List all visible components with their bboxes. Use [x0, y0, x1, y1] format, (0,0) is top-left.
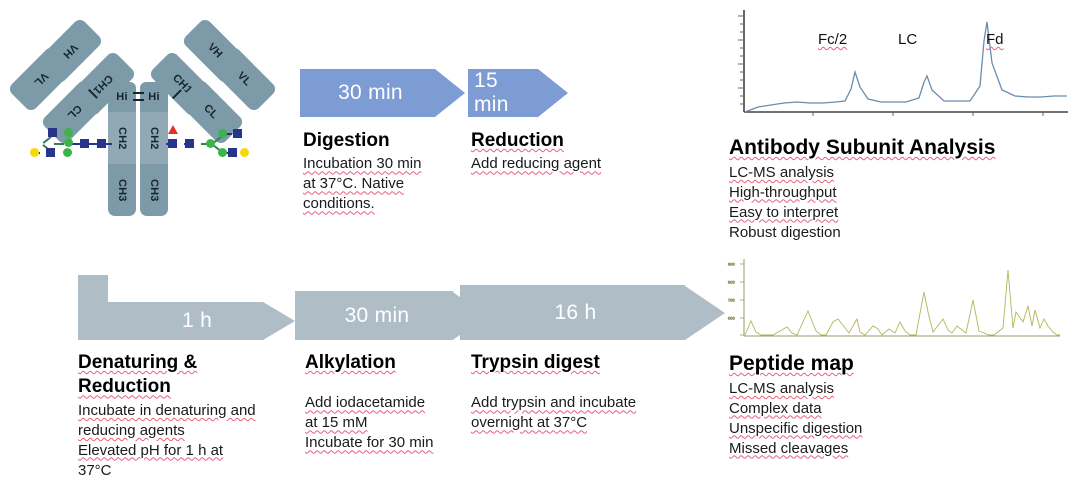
step-title: Digestion: [303, 130, 463, 152]
result-line: LC-MS analysis: [729, 164, 834, 181]
domain-hinge-right: Hi: [140, 82, 168, 112]
arrow-duration-label: 30 min: [295, 291, 453, 340]
peak-label-fc2: Fc/2: [818, 31, 847, 48]
fucose-symbol: [168, 125, 178, 134]
antibody-diagram: VL CL VH CH1 CH1 VH CL VL Hi Hi CH2 CH2 …: [0, 0, 285, 250]
domain-label: Hi: [148, 91, 159, 103]
disulfide-bond-upper: [133, 92, 144, 94]
domain-label: VH: [60, 41, 80, 61]
step-line: Add reducing agent: [471, 155, 601, 172]
arrow-head-icon: [685, 286, 725, 340]
domain-ch2-left: CH2: [108, 112, 136, 164]
arrow-reduction: 15 min: [468, 69, 568, 117]
step-line: at 37°C. Native: [303, 175, 404, 192]
arrow-duration-label: 15 min: [468, 69, 538, 117]
mannose-symbol: [206, 139, 215, 148]
step-line: Incubation 30 min: [303, 155, 421, 172]
peptide-map-chromatogram: 900 800 700 600: [722, 256, 1062, 346]
domain-label: CH3: [148, 179, 160, 202]
domain-ch2-right: CH2: [140, 112, 168, 164]
subunit-chromatogram: Fc/2 LC Fd: [718, 6, 1070, 126]
step-title-line2: Reduction: [78, 376, 303, 398]
arrow-head-icon: [538, 69, 568, 117]
step-title: Trypsin digest: [471, 352, 711, 374]
domain-label: CH2: [116, 127, 128, 150]
glcnac-symbol: [228, 148, 237, 157]
peak-label-lc: LC: [898, 31, 917, 48]
mannose-symbol: [218, 129, 227, 138]
arrow-duration-label: 1 h: [125, 302, 263, 340]
svg-text:600: 600: [728, 316, 735, 321]
glcnac-symbol: [97, 139, 106, 148]
result-line: LC-MS analysis: [729, 380, 834, 397]
arrow-head-icon: [263, 302, 295, 340]
arrow-denaturing-reduction: 1 h: [125, 302, 295, 340]
glcnac-symbol: [233, 129, 242, 138]
step-digestion-text: Digestion Incubation 30 min at 37°C. Nat…: [303, 130, 463, 214]
step-line: 37°C: [78, 462, 112, 479]
disulfide-bond-lower: [133, 99, 144, 101]
domain-label: CL: [201, 102, 220, 121]
domain-label: Hi: [116, 91, 127, 103]
arrow-trypsin-digest: 16 h: [460, 285, 725, 340]
result-title: Peptide map: [729, 352, 1029, 377]
result-peptide-map: Peptide map LC-MS analysis Complex data …: [729, 352, 1029, 459]
step-alkylation-text: Alkylation Add iodacetamide at 15 mM Inc…: [305, 352, 480, 453]
peak-label-fd: Fd: [986, 31, 1004, 48]
domain-hinge-left: Hi: [108, 82, 136, 112]
domain-label: CH3: [116, 179, 128, 202]
glycan-right: [166, 120, 252, 165]
svg-text:900: 900: [728, 262, 735, 267]
galactose-symbol: [240, 148, 249, 157]
step-title: Reduction: [471, 130, 661, 152]
step-line: at 15 mM: [305, 414, 368, 431]
svg-text:700: 700: [728, 298, 735, 303]
result-line: Robust digestion: [729, 224, 841, 241]
step-line: Add trypsin and incubate: [471, 394, 636, 411]
mannose-symbol: [63, 148, 72, 157]
step-line: Incubate in denaturing and: [78, 402, 256, 419]
step-trypsin-text: Trypsin digest Add trypsin and incubate …: [471, 352, 711, 433]
glycan-left: [30, 120, 110, 165]
glcnac-symbol: [168, 139, 177, 148]
arrow-duration-label: 16 h: [460, 285, 685, 340]
glcnac-symbol: [48, 128, 57, 137]
step-line: Add iodacetamide: [305, 394, 425, 411]
arrow-digestion: 30 min: [300, 69, 465, 117]
glcnac-symbol: [80, 139, 89, 148]
mannose-symbol: [218, 148, 227, 157]
step-title: Denaturing &: [78, 352, 303, 374]
result-line: Easy to interpret: [729, 204, 838, 221]
step-reduction-text: Reduction Add reducing agent: [471, 130, 661, 174]
arrow-alkylation: 30 min: [295, 291, 485, 340]
galactose-symbol: [30, 148, 39, 157]
step-line: Incubate for 30 min: [305, 434, 433, 451]
mannose-symbol: [64, 128, 73, 137]
glcnac-symbol: [185, 139, 194, 148]
domain-ch3-left: CH3: [108, 164, 136, 216]
arrow-head-icon: [435, 69, 465, 117]
svg-text:800: 800: [728, 280, 735, 285]
result-subunit-analysis: Antibody Subunit Analysis LC-MS analysis…: [729, 136, 1059, 243]
result-title: Antibody Subunit Analysis: [729, 136, 1059, 161]
arrow-duration-label: 30 min: [300, 69, 435, 117]
workflow-connector-elbow: [78, 275, 132, 340]
step-title: Alkylation: [305, 352, 480, 374]
result-line: Missed cleavages: [729, 440, 848, 457]
result-line: High-throughput: [729, 184, 837, 201]
step-line: overnight at 37°C: [471, 414, 587, 431]
step-line: reducing agents: [78, 422, 185, 439]
step-line: Elevated pH for 1 h at: [78, 442, 223, 459]
step-denaturing-text: Denaturing & Reduction Incubate in denat…: [78, 352, 303, 481]
domain-label: VL: [235, 70, 254, 89]
mannose-symbol: [64, 138, 73, 147]
step-line: conditions.: [303, 195, 375, 212]
result-line: Unspecific digestion: [729, 420, 862, 437]
result-line: Complex data: [729, 400, 822, 417]
glcnac-symbol: [46, 148, 55, 157]
domain-label: CH2: [148, 127, 160, 150]
domain-ch3-right: CH3: [140, 164, 168, 216]
